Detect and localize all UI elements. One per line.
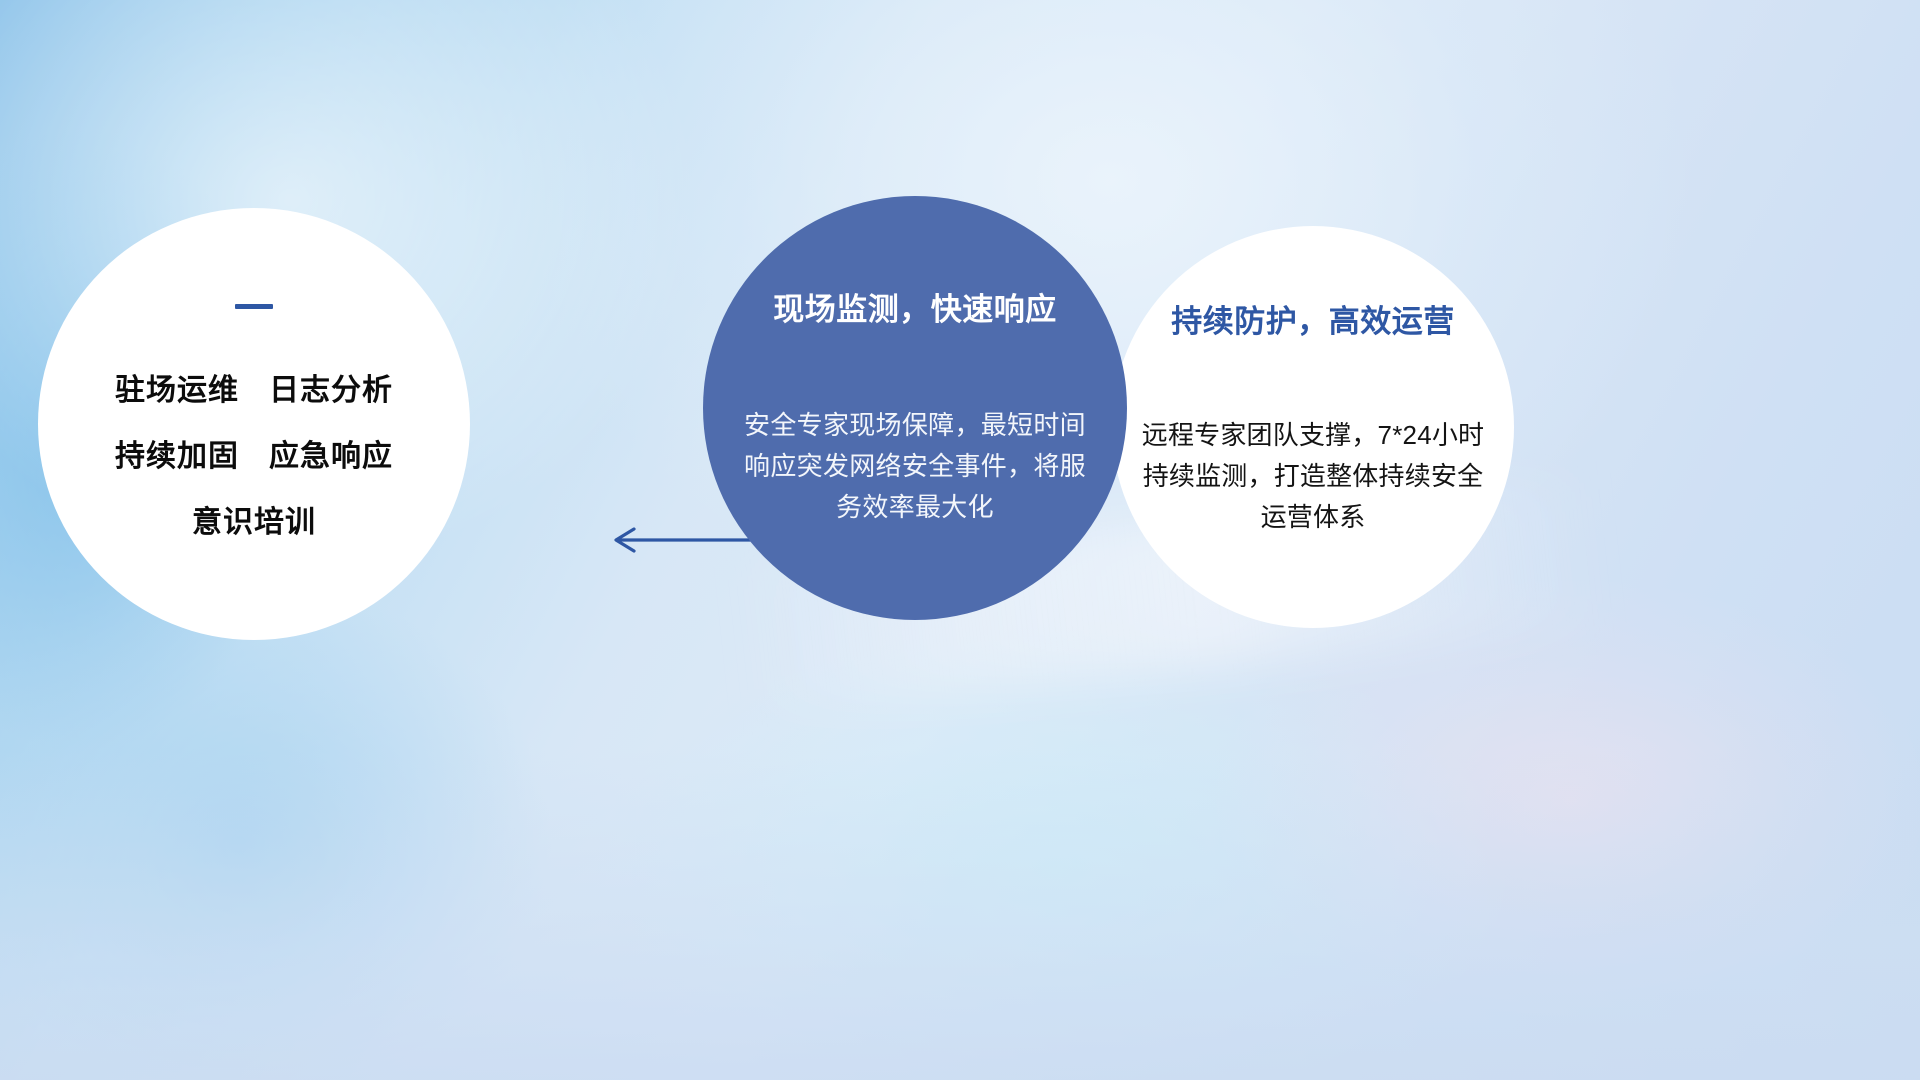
middle-circle-content: 现场监测，快速响应 安全专家现场保障，最短时间响应突发网络安全事件，将服务效率最…: [743, 284, 1087, 528]
capability-item: 持续加固: [115, 431, 239, 475]
middle-circle-body: 安全专家现场保障，最短时间响应突发网络安全事件，将服务效率最大化: [743, 405, 1087, 528]
capability-circle-middle[interactable]: 现场监测，快速响应 安全专家现场保障，最短时间响应突发网络安全事件，将服务效率最…: [703, 196, 1127, 620]
capability-row: 驻场运维 日志分析: [38, 365, 470, 409]
background-bottom-fade: [0, 750, 1920, 1080]
left-circle-content: 驻场运维 日志分析 持续加固 应急响应 意识培训: [38, 304, 470, 541]
middle-circle-title: 现场监测，快速响应: [743, 284, 1087, 329]
divider-rule: [235, 304, 273, 309]
capability-row: 持续加固 应急响应: [38, 431, 470, 475]
capability-circle-right[interactable]: 持续防护，高效运营 远程专家团队支撑，7*24小时持续监测，打造整体持续安全运营…: [1112, 226, 1514, 628]
capability-item: 驻场运维: [115, 365, 239, 409]
capability-item: 日志分析: [269, 365, 393, 409]
capability-item: 意识培训: [192, 497, 316, 541]
capability-circle-left[interactable]: 驻场运维 日志分析 持续加固 应急响应 意识培训: [38, 208, 470, 640]
right-circle-content: 持续防护，高效运营 远程专家团队支撑，7*24小时持续监测，打造整体持续安全运营…: [1138, 296, 1488, 538]
slide-canvas: 驻场运维 日志分析 持续加固 应急响应 意识培训 持续防护，高效运营 远程专家团…: [0, 0, 1920, 1080]
right-circle-body: 远程专家团队支撑，7*24小时持续监测，打造整体持续安全运营体系: [1138, 415, 1488, 538]
capability-item: 应急响应: [269, 431, 393, 475]
capability-row: 意识培训: [38, 497, 470, 541]
right-circle-title: 持续防护，高效运营: [1138, 296, 1488, 341]
